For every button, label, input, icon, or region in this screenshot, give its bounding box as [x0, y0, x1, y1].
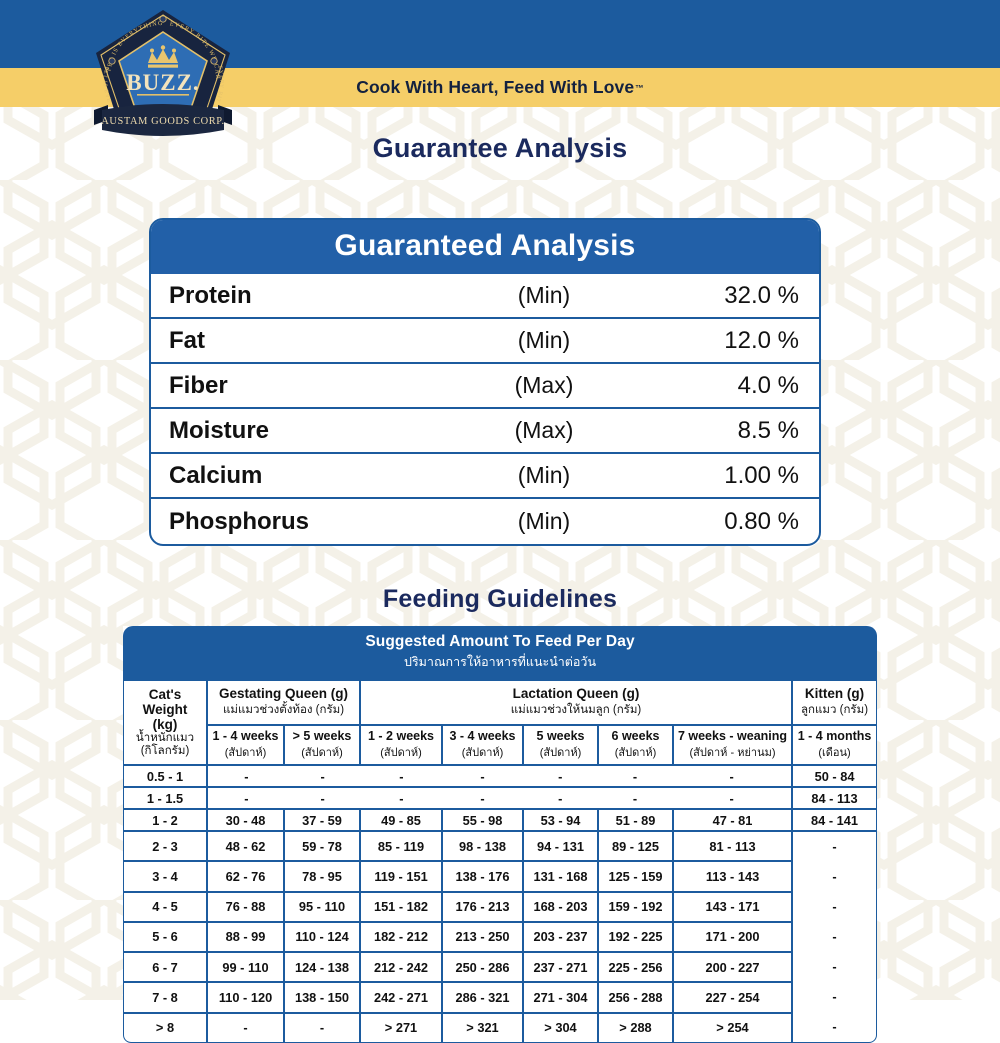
cell-value: 55 - 98	[442, 809, 523, 831]
cell-value: -	[793, 862, 876, 892]
cell-value: 159 - 192	[598, 892, 673, 922]
cell-merged-dashes: -------	[207, 765, 792, 787]
cell-value: 99 - 110	[207, 952, 284, 982]
nutrient-value: 8.5 %	[649, 417, 803, 445]
table-row: Calcium (Min) 1.00 %	[151, 454, 819, 499]
cell-value: 88 - 99	[207, 922, 284, 952]
table-row: 0.5 - 1-------50 - 84	[123, 765, 877, 787]
cell-value: 227 - 254	[673, 982, 792, 1012]
group-header-lactation-queen: Lactation Queen (g) แม่แมวช่วงให้นมลูก (…	[360, 680, 792, 725]
suggested-amount-header-en: Suggested Amount To Feed Per Day	[123, 633, 877, 651]
cell-value: 49 - 85	[360, 809, 442, 831]
group-header-en: Gestating Queen (g)	[210, 686, 357, 701]
cell-cats-weight: 1 - 2	[123, 809, 207, 831]
cell-cats-weight: 2 - 3	[123, 831, 207, 861]
nutrient-name: Fat	[169, 327, 439, 355]
nutrient-value: 4.0 %	[649, 372, 803, 400]
subheader-6-weeks: 6 weeks (สัปดาห์)	[598, 725, 673, 765]
cell-cats-weight: > 8	[123, 1013, 207, 1043]
subheader-en: 5 weeks	[525, 729, 596, 743]
cell-value: 62 - 76	[207, 861, 284, 891]
group-header-gestating-queen: Gestating Queen (g) แม่แมวช่วงตั้งท้อง (…	[207, 680, 360, 725]
cell-cats-weight: 6 - 7	[123, 952, 207, 982]
cell-value: 143 - 171	[673, 892, 792, 922]
subheader-th: (สัปดาห์)	[362, 743, 440, 761]
table-subheader-row: 1 - 4 weeks (สัปดาห์) > 5 weeks (สัปดาห์…	[123, 725, 877, 765]
cell-value: 171 - 200	[673, 922, 792, 952]
subheader-en: 1 - 4 months	[794, 729, 875, 743]
cell-value: -	[208, 791, 285, 806]
nutrient-qualifier: (Min)	[439, 462, 649, 489]
cell-value: -	[598, 791, 673, 806]
table-row: 1 - 230 - 4837 - 5949 - 8555 - 9853 - 94…	[123, 809, 877, 831]
subheader-th: (สัปดาห์)	[286, 743, 358, 761]
cell-value: 151 - 182	[360, 892, 442, 922]
cell-value: 176 - 213	[442, 892, 523, 922]
nutrient-qualifier: (Min)	[439, 282, 649, 309]
cell-value: 119 - 151	[360, 861, 442, 891]
nutrient-value: 12.0 %	[649, 327, 803, 355]
cell-value: 59 - 78	[284, 831, 360, 861]
cell-cats-weight: 1 - 1.5	[123, 787, 207, 809]
group-header-en: Kitten (g)	[795, 686, 874, 701]
logo-banner-text: AUSTAM GOODS CORP.	[101, 116, 224, 127]
cell-value: -	[793, 892, 876, 922]
feeding-guidelines-table-wrapper: Suggested Amount To Feed Per Day ปริมาณก…	[123, 626, 877, 1043]
cell-value: 89 - 125	[598, 831, 673, 861]
feeding-table-body: 0.5 - 1-------50 - 841 - 1.5-------84 - …	[123, 765, 877, 1043]
feeding-guidelines-table: Suggested Amount To Feed Per Day ปริมาณก…	[123, 626, 877, 1043]
cats-weight-line1: Cat's Weight	[126, 687, 204, 717]
subheader-3-4-weeks: 3 - 4 weeks (สัปดาห์)	[442, 725, 523, 765]
group-header-kitten: Kitten (g) ลูกแมว (กรัม)	[792, 680, 877, 725]
nutrient-value: 32.0 %	[649, 282, 803, 310]
guaranteed-analysis-card: Guaranteed Analysis Protein (Min) 32.0 %…	[149, 218, 821, 546]
cell-value: 213 - 250	[442, 922, 523, 952]
cell-value: -	[672, 791, 791, 806]
table-row: 4 - 576 - 8895 - 110151 - 182176 - 21316…	[123, 892, 877, 922]
table-row: Moisture (Max) 8.5 %	[151, 409, 819, 454]
group-header-th: ลูกแมว (กรัม)	[795, 701, 874, 719]
cell-value: -	[442, 769, 523, 784]
tagline-text: Cook With Heart, Feed With Love	[356, 77, 634, 98]
cell-value: 110 - 120	[207, 982, 284, 1012]
nutrient-qualifier: (Max)	[439, 417, 649, 444]
table-group-header-row: Cat's Weight (kg) น้ำหนักแมว (กิโลกรัม) …	[123, 680, 877, 725]
cell-value: > 288	[598, 1013, 673, 1043]
table-row: Fiber (Max) 4.0 %	[151, 364, 819, 409]
cell-value: > 254	[673, 1013, 792, 1043]
subheader-en: > 5 weeks	[286, 729, 358, 743]
cell-value: 168 - 203	[523, 892, 598, 922]
cell-value: 30 - 48	[207, 809, 284, 831]
nutrient-name: Phosphorus	[169, 508, 439, 536]
subheader-th: (สัปดาห์)	[600, 743, 671, 761]
cell-value: 94 - 131	[523, 831, 598, 861]
cell-value: 76 - 88	[207, 892, 284, 922]
cell-value: 47 - 81	[673, 809, 792, 831]
cell-value: 81 - 113	[673, 831, 792, 861]
cell-value: 212 - 242	[360, 952, 442, 982]
cell-cats-weight: 7 - 8	[123, 982, 207, 1012]
cell-value: 182 - 212	[360, 922, 442, 952]
table-row: 1 - 1.5-------84 - 113	[123, 787, 877, 809]
nutrient-qualifier: (Min)	[439, 327, 649, 354]
buzz-brand-logo: PET IS EVERYTHING EVERY BITE WE CARE PET…	[88, 6, 238, 146]
cell-value: 124 - 138	[284, 952, 360, 982]
cell-value: > 304	[523, 1013, 598, 1043]
cats-weight-line3: น้ำหนักแมว	[126, 732, 204, 745]
subheader-en: 1 - 2 weeks	[362, 729, 440, 743]
cell-cats-weight: 3 - 4	[123, 861, 207, 891]
nutrient-name: Protein	[169, 282, 439, 310]
cell-value: -	[523, 791, 598, 806]
table-row: > 8--> 271> 321> 304> 288> 254	[123, 1013, 877, 1043]
cell-value: 95 - 110	[284, 892, 360, 922]
nutrient-name: Moisture	[169, 417, 439, 445]
cell-kitten: 84 - 113	[792, 787, 877, 809]
cell-value: -	[793, 922, 876, 952]
table-row: 7 - 8110 - 120138 - 150242 - 271286 - 32…	[123, 982, 877, 1012]
nutrient-name: Fiber	[169, 372, 439, 400]
cell-value: -	[598, 769, 673, 784]
cell-value: 242 - 271	[360, 982, 442, 1012]
cell-value: 37 - 59	[284, 809, 360, 831]
subheader-en: 6 weeks	[600, 729, 671, 743]
cell-value: 131 - 168	[523, 861, 598, 891]
cell-kitten: 84 - 141	[792, 809, 877, 831]
cell-kitten-merged: -------	[792, 831, 877, 1043]
cell-value: 48 - 62	[207, 831, 284, 861]
nutrient-value: 0.80 %	[649, 508, 803, 536]
subheader-gt-5-weeks: > 5 weeks (สัปดาห์)	[284, 725, 360, 765]
subheader-th: (เดือน)	[794, 743, 875, 761]
table-row: Phosphorus (Min) 0.80 %	[151, 499, 819, 544]
cell-value: 256 - 288	[598, 982, 673, 1012]
cell-value: 138 - 150	[284, 982, 360, 1012]
subheader-en: 1 - 4 weeks	[209, 729, 282, 743]
cell-cats-weight: 5 - 6	[123, 922, 207, 952]
subheader-en: 3 - 4 weeks	[444, 729, 521, 743]
cell-value: 78 - 95	[284, 861, 360, 891]
cell-value: -	[360, 769, 442, 784]
table-row: 3 - 462 - 7678 - 95119 - 151138 - 176131…	[123, 861, 877, 891]
cats-weight-header: Cat's Weight (kg) น้ำหนักแมว (กิโลกรัม)	[123, 680, 207, 765]
cell-value: 125 - 159	[598, 861, 673, 891]
nutrient-qualifier: (Min)	[439, 508, 649, 535]
cell-value: -	[208, 769, 285, 784]
feeding-guidelines-title: Feeding Guidelines	[0, 585, 1000, 614]
subheader-th: (สัปดาห์)	[525, 743, 596, 761]
guaranteed-analysis-header: Guaranteed Analysis	[151, 220, 819, 274]
cell-value: 138 - 176	[442, 861, 523, 891]
suggested-amount-header: Suggested Amount To Feed Per Day ปริมาณก…	[123, 626, 877, 680]
cell-value: -	[793, 982, 876, 1012]
subheader-en: 7 weeks - weaning	[675, 729, 790, 743]
cell-value: 110 - 124	[284, 922, 360, 952]
suggested-amount-header-th: ปริมาณการให้อาหารที่แนะนำต่อวัน	[123, 652, 877, 672]
cell-value: -	[285, 791, 361, 806]
cell-value: 200 - 227	[673, 952, 792, 982]
cell-value: -	[285, 769, 361, 784]
table-row: 6 - 799 - 110124 - 138212 - 242250 - 286…	[123, 952, 877, 982]
cell-cats-weight: 4 - 5	[123, 892, 207, 922]
cats-weight-line4: (กิโลกรัม)	[126, 745, 204, 758]
subheader-th: (สัปดาห์ - หย่านม)	[675, 743, 790, 761]
cell-value: > 271	[360, 1013, 442, 1043]
subheader-1-4-weeks: 1 - 4 weeks (สัปดาห์)	[207, 725, 284, 765]
cell-value: > 321	[442, 1013, 523, 1043]
cell-value: -	[672, 769, 791, 784]
cell-value: 203 - 237	[523, 922, 598, 952]
cell-value: -	[442, 791, 523, 806]
subheader-1-4-months: 1 - 4 months (เดือน)	[792, 725, 877, 765]
cell-value: -	[360, 791, 442, 806]
cell-value: -	[793, 832, 876, 862]
cell-value: 98 - 138	[442, 831, 523, 861]
nutrient-qualifier: (Max)	[439, 372, 649, 399]
table-row: 5 - 688 - 99110 - 124182 - 212213 - 2502…	[123, 922, 877, 952]
cell-value: 225 - 256	[598, 952, 673, 982]
cell-value: 51 - 89	[598, 809, 673, 831]
table-row: Protein (Min) 32.0 %	[151, 274, 819, 319]
cell-value: 250 - 286	[442, 952, 523, 982]
cell-kitten: 50 - 84	[792, 765, 877, 787]
cell-value: 85 - 119	[360, 831, 442, 861]
cell-cats-weight: 0.5 - 1	[123, 765, 207, 787]
cell-value: -	[793, 1012, 876, 1042]
subheader-5-weeks: 5 weeks (สัปดาห์)	[523, 725, 598, 765]
cell-value: -	[207, 1013, 284, 1043]
group-header-th: แม่แมวช่วงให้นมลูก (กรัม)	[363, 701, 789, 719]
table-row: Fat (Min) 12.0 %	[151, 319, 819, 364]
cell-value: -	[523, 769, 598, 784]
trademark-symbol: ™	[635, 83, 644, 93]
group-header-th: แม่แมวช่วงตั้งท้อง (กรัม)	[210, 701, 357, 719]
subheader-1-2-weeks: 1 - 2 weeks (สัปดาห์)	[360, 725, 442, 765]
cell-value: 271 - 304	[523, 982, 598, 1012]
cell-value: 237 - 271	[523, 952, 598, 982]
cell-value: -	[284, 1013, 360, 1043]
subheader-th: (สัปดาห์)	[209, 743, 282, 761]
subheader-th: (สัปดาห์)	[444, 743, 521, 761]
group-header-en: Lactation Queen (g)	[363, 686, 789, 701]
nutrient-name: Calcium	[169, 462, 439, 490]
cell-value: 286 - 321	[442, 982, 523, 1012]
cell-value: 113 - 143	[673, 861, 792, 891]
table-title-row: Suggested Amount To Feed Per Day ปริมาณก…	[123, 626, 877, 680]
cats-weight-line2: (kg)	[126, 717, 204, 732]
subheader-7-weeks-weaning: 7 weeks - weaning (สัปดาห์ - หย่านม)	[673, 725, 792, 765]
cell-value: 53 - 94	[523, 809, 598, 831]
nutrient-value: 1.00 %	[649, 462, 803, 490]
cell-value: -	[793, 952, 876, 982]
cell-merged-dashes: -------	[207, 787, 792, 809]
logo-wordmark: BUZZ.	[126, 70, 199, 95]
table-row: 2 - 348 - 6259 - 7885 - 11998 - 13894 - …	[123, 831, 877, 861]
cell-value: 192 - 225	[598, 922, 673, 952]
